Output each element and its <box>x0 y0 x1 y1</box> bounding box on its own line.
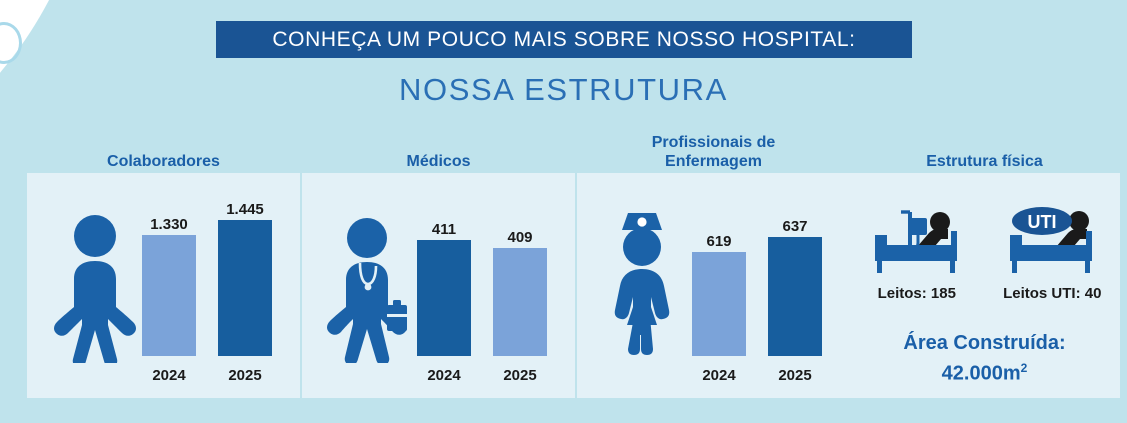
bar-year-2025: 2025 <box>218 367 272 384</box>
bed-caption-leitos: Leitos: 185 <box>858 285 976 302</box>
card-body-estrutura-fisica: Leitos: 185 UTI <box>849 173 1120 398</box>
bar-value-2024: 619 <box>692 233 746 250</box>
card-body-enfermagem: 619 2024 637 2025 <box>577 173 850 398</box>
bar-year-2024: 2024 <box>692 367 746 384</box>
bar-chart-enfermagem: 619 2024 637 2025 <box>686 173 836 398</box>
bar-rect-2024 <box>417 240 471 356</box>
bar-year-2024: 2024 <box>142 367 196 384</box>
bed-block-leitos-uti: UTI Leitos UTI: 40 <box>993 197 1111 302</box>
cards-row: Colaboradores 1.330 2024 1.445 2025 <box>0 128 1127 408</box>
bar-year-2025: 2025 <box>493 367 547 384</box>
structure-icons-row: Leitos: 185 UTI <box>849 197 1120 302</box>
icu-bed-icon: UTI <box>993 197 1111 275</box>
bar-rect-2025 <box>768 237 822 356</box>
bar-column-2025: 637 2025 <box>768 173 822 398</box>
card-body-medicos: 411 2024 409 2025 <box>302 173 575 398</box>
bar-chart-colaboradores: 1.330 2024 1.445 2025 <box>136 173 286 398</box>
icu-badge-text: UTI <box>1028 212 1057 232</box>
area-construida-value: 42.000m2 <box>849 356 1120 387</box>
bar-column-2024: 411 2024 <box>417 173 471 398</box>
bar-year-2025: 2025 <box>768 367 822 384</box>
bar-column-2025: 1.445 2025 <box>218 173 272 398</box>
bar-column-2024: 1.330 2024 <box>142 173 196 398</box>
bed-caption-leitos-uti: Leitos UTI: 40 <box>993 285 1111 302</box>
bar-rect-2024 <box>692 252 746 356</box>
card-body-colaboradores: 1.330 2024 1.445 2025 <box>27 173 300 398</box>
bar-value-2024: 1.330 <box>142 216 196 233</box>
page-title: NOSSA ESTRUTURA <box>0 72 1127 108</box>
area-construida-block: Área Construída: 42.000m2 <box>849 331 1120 387</box>
nurse-icon <box>599 205 691 355</box>
bar-value-2024: 411 <box>417 221 471 238</box>
bar-value-2025: 409 <box>493 229 547 246</box>
card-title-enfermagem: Profissionais de Enfermagem <box>577 128 850 173</box>
card-medicos: Médicos 411 2024 <box>302 128 575 408</box>
bar-value-2025: 637 <box>768 218 822 235</box>
bar-rect-2024 <box>142 235 196 356</box>
bar-chart-medicos: 411 2024 409 2025 <box>411 173 561 398</box>
card-estrutura-fisica: Estrutura física <box>849 128 1120 408</box>
card-enfermagem: Profissionais de Enfermagem 619 2024 <box>577 128 850 408</box>
hospital-bed-icon <box>858 197 976 275</box>
area-construida-exponent: 2 <box>1021 361 1028 375</box>
bar-column-2025: 409 2025 <box>493 173 547 398</box>
card-colaboradores: Colaboradores 1.330 2024 1.445 2025 <box>27 128 300 408</box>
area-construida-number: 42.000m <box>942 363 1021 385</box>
header-banner-text: CONHEÇA UM POUCO MAIS SOBRE NOSSO HOSPIT… <box>272 28 855 52</box>
bar-column-2024: 619 2024 <box>692 173 746 398</box>
header-banner: CONHEÇA UM POUCO MAIS SOBRE NOSSO HOSPIT… <box>216 21 912 58</box>
bed-block-leitos: Leitos: 185 <box>858 197 976 302</box>
card-title-medicos: Médicos <box>302 128 575 173</box>
card-title-enfermagem-line1: Profissionais de <box>652 133 776 152</box>
bar-value-2025: 1.445 <box>218 201 272 218</box>
bar-rect-2025 <box>493 248 547 356</box>
bar-year-2024: 2024 <box>417 367 471 384</box>
person-icon <box>49 213 141 363</box>
card-title-estrutura-fisica: Estrutura física <box>849 128 1120 173</box>
bar-rect-2025 <box>218 220 272 356</box>
area-construida-label: Área Construída: <box>849 331 1120 356</box>
card-title-enfermagem-line2: Enfermagem <box>665 152 762 171</box>
doctor-icon <box>324 213 416 363</box>
card-title-colaboradores: Colaboradores <box>27 128 300 173</box>
